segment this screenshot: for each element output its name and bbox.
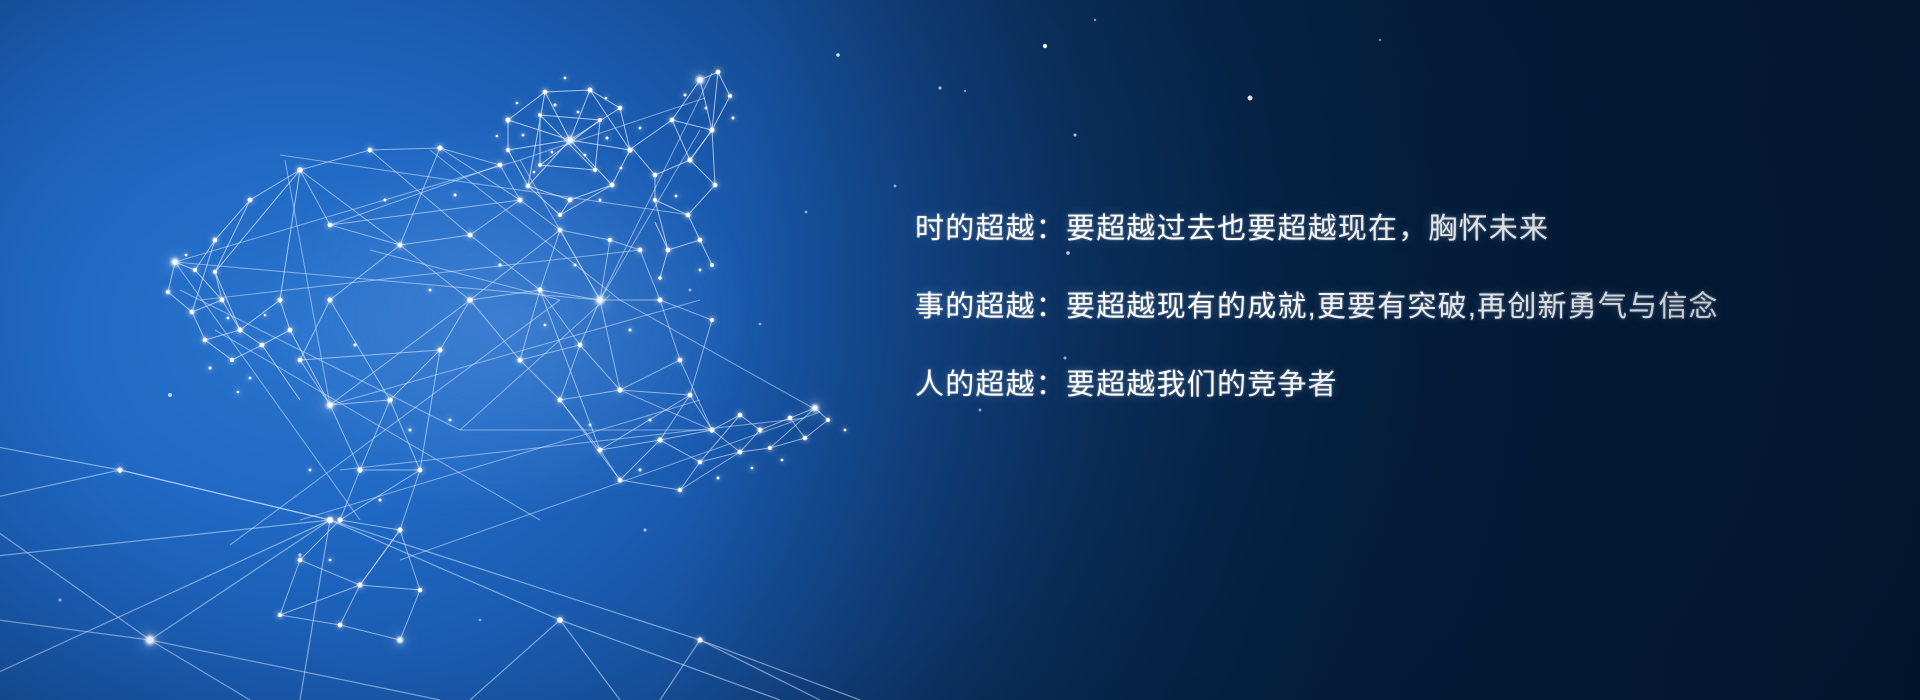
vignette-overlay [0, 0, 1920, 700]
hero-banner: 时的超越：要超越过去也要超越现在，胸怀未来 事的超越：要超越现有的成就,更要有突… [0, 0, 1920, 700]
